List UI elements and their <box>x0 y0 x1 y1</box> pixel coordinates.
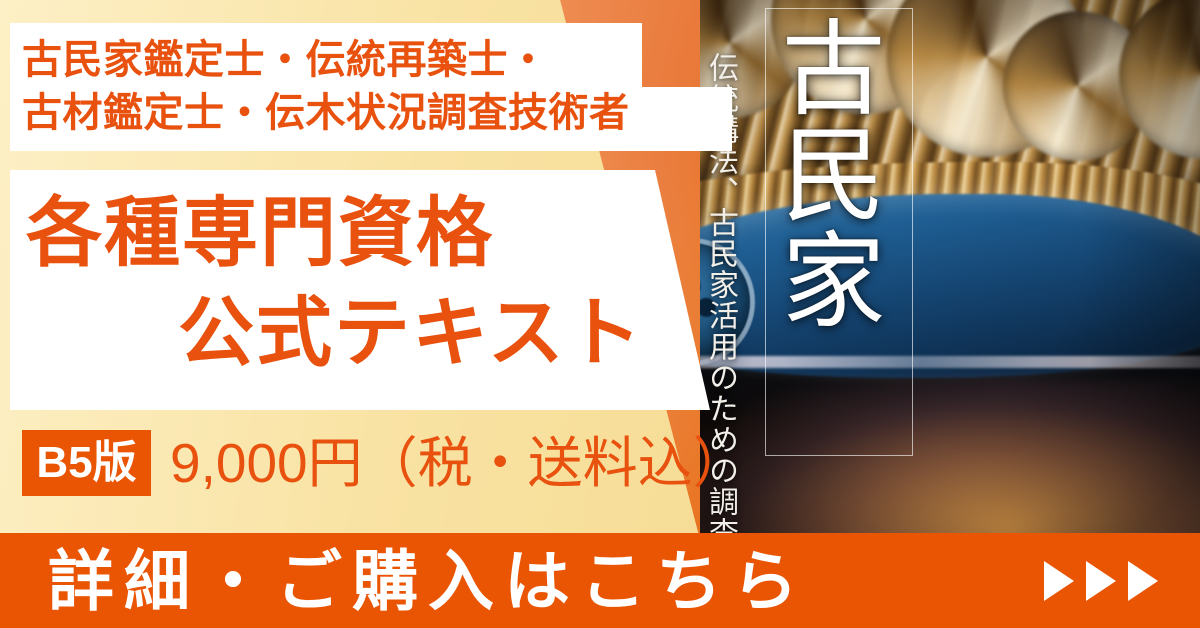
headline-line-1: 各種専門資格 <box>26 196 494 272</box>
promo-banner: 古民家 伝統構法、古民家活用のための調査と再生の 古民家鑑定士・伝統再築士・ 古… <box>0 0 1200 628</box>
cta-bar[interactable]: 詳細・ご購入はこちら <box>0 533 1200 628</box>
qualifications-line-2: 古材鑑定士・伝木状況調査技術者 <box>22 93 630 133</box>
triangle-right-icon <box>1086 561 1116 601</box>
book-cover-title: 古民家 <box>790 14 894 444</box>
format-badge: B5版 <box>22 430 151 496</box>
qualifications-line-1: 古民家鑑定士・伝統再築士・ <box>22 40 549 80</box>
triangle-right-icon <box>1044 561 1074 601</box>
headline-line-2: 公式テキスト <box>178 296 644 372</box>
cta-arrows <box>1044 561 1158 601</box>
triangle-right-icon <box>1128 561 1158 601</box>
price-text: 9,000円（税・送料込） <box>170 434 748 492</box>
cta-label: 詳細・ご購入はこちら <box>48 548 808 614</box>
